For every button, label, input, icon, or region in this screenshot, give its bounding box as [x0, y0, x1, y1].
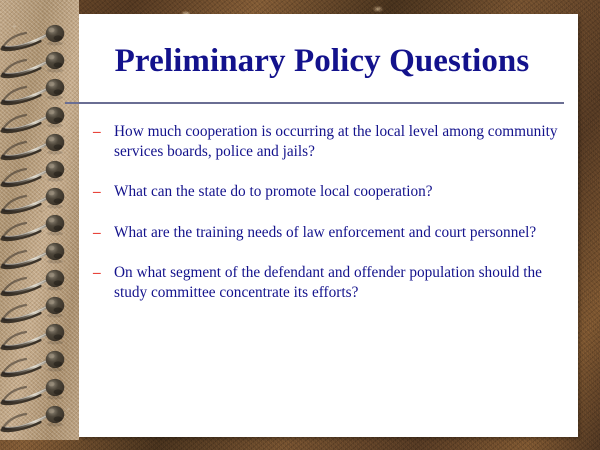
title-divider-rule [65, 102, 564, 104]
list-item-text: What are the training needs of law enfor… [114, 223, 573, 243]
dash-bullet-icon: – [93, 263, 114, 283]
bullet-list: – How much cooperation is occurring at t… [93, 122, 573, 323]
slide-content: Preliminary Policy Questions – How much … [79, 14, 578, 437]
presentation-slide: Preliminary Policy Questions – How much … [0, 0, 600, 450]
dash-bullet-icon: – [93, 122, 114, 142]
list-item-text: How much cooperation is occurring at the… [114, 122, 573, 162]
list-item: – How much cooperation is occurring at t… [93, 122, 573, 162]
dash-bullet-icon: – [93, 223, 114, 243]
list-item: – What can the state do to promote local… [93, 182, 573, 202]
page-title: Preliminary Policy Questions [67, 43, 577, 80]
list-item-text: On what segment of the defendant and off… [114, 263, 573, 303]
list-item: – What are the training needs of law enf… [93, 223, 573, 243]
dash-bullet-icon: – [93, 182, 114, 202]
list-item: – On what segment of the defendant and o… [93, 263, 573, 303]
list-item-text: What can the state do to promote local c… [114, 182, 573, 202]
